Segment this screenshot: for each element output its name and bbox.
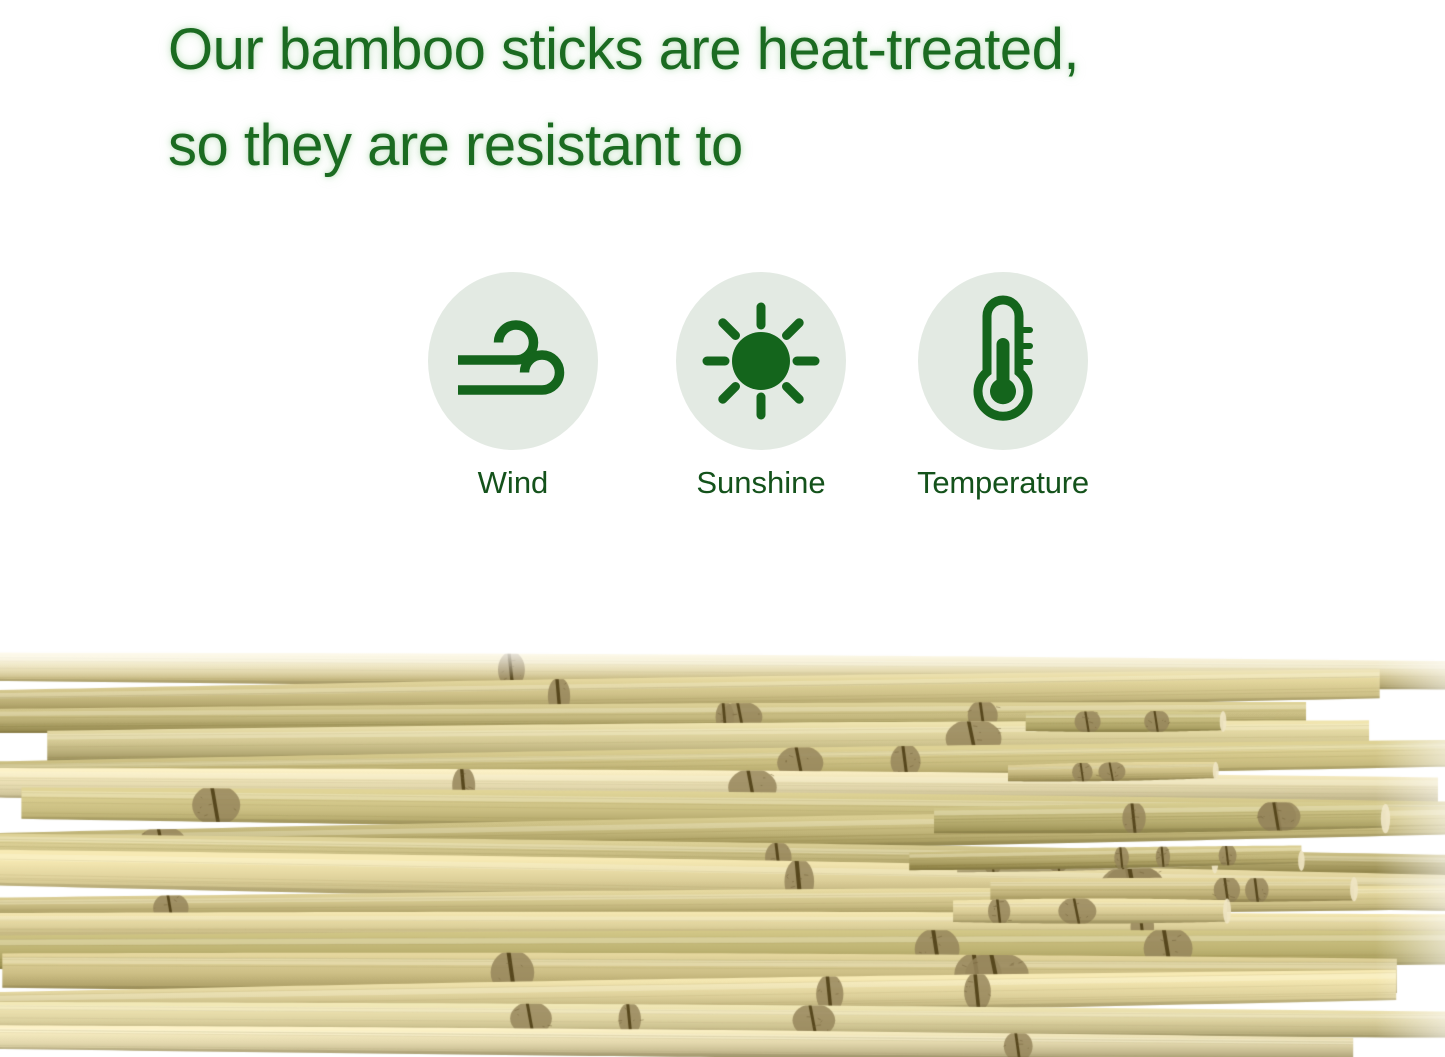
wind-icon-circle [428,272,598,450]
headline-line-2: so they are resistant to [168,98,1328,194]
headline: Our bamboo sticks are heat-treated, so t… [168,2,1328,194]
thermometer-icon-circle [918,272,1088,450]
feature-label-wind: Wind [418,464,608,502]
bamboo-sticks-canvas [0,645,1445,1057]
feature-wind: Wind [418,272,608,502]
bamboo-sticks-photo [0,645,1445,1057]
headline-line-1: Our bamboo sticks are heat-treated, [168,2,1328,98]
feature-sunshine: Sunshine [666,272,856,502]
feature-label-sunshine: Sunshine [666,464,856,502]
thermometer-icon [960,294,1046,428]
wind-icon [454,320,572,402]
feature-label-temperature: Temperature [908,464,1098,502]
sun-icon [701,301,821,421]
feature-temperature: Temperature [908,272,1098,502]
resistance-features: Wind Sunshine [418,272,1148,512]
sun-icon-circle [676,272,846,450]
